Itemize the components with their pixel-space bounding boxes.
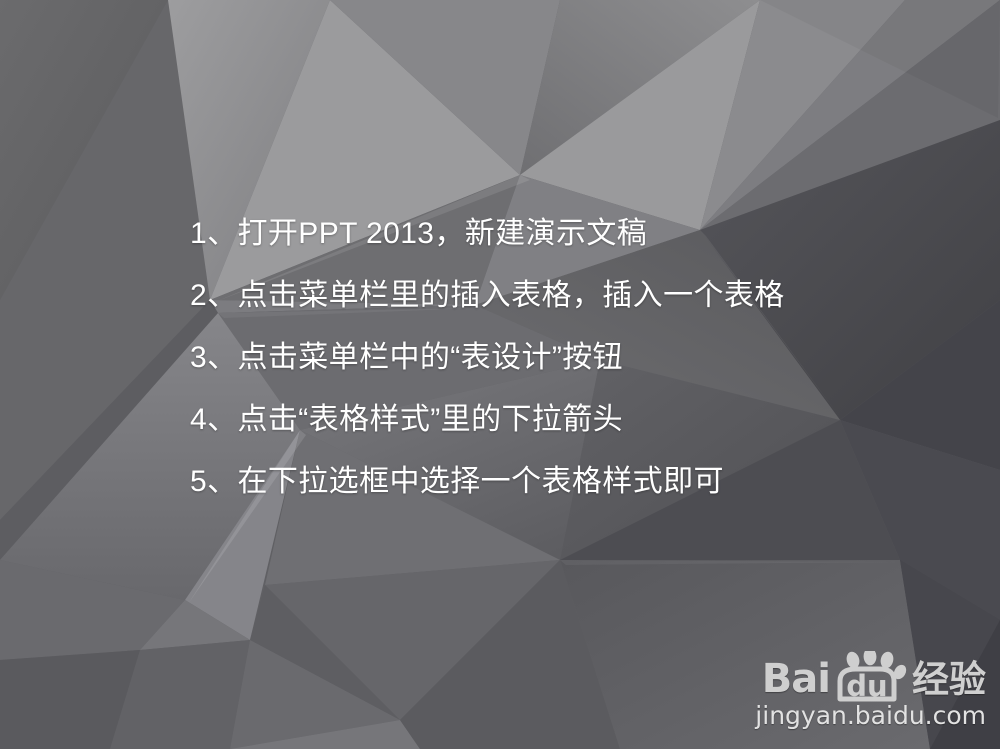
steps-list: 1、打开PPT 2013，新建演示文稿 2、点击菜单栏里的插入表格，插入一个表格… [190,203,980,513]
list-item: 2、点击菜单栏里的插入表格，插入一个表格 [190,265,980,327]
baidu-paw-icon: du [830,651,908,703]
baidu-jingyan-watermark: Bai du 经验 jingyan.baidu.com [740,651,986,735]
presentation-slide: 1、打开PPT 2013，新建演示文稿 2、点击菜单栏里的插入表格，插入一个表格… [0,0,1000,749]
baidu-wordmark-cn: 经验 [912,661,986,699]
list-item: 3、点击菜单栏中的“表设计”按钮 [190,327,980,389]
list-item: 1、打开PPT 2013，新建演示文稿 [190,203,980,265]
watermark-url: jingyan.baidu.com [740,701,986,731]
slide-content: 1、打开PPT 2013，新建演示文稿 2、点击菜单栏里的插入表格，插入一个表格… [0,0,1000,749]
watermark-logo-row: Bai du 经验 [740,651,986,699]
baidu-wordmark-latin: Bai [762,659,830,699]
list-item: 4、点击“表格样式”里的下拉箭头 [190,389,980,451]
list-item: 5、在下拉选框中选择一个表格样式即可 [190,451,980,513]
baidu-wordmark-du: du [846,669,887,703]
